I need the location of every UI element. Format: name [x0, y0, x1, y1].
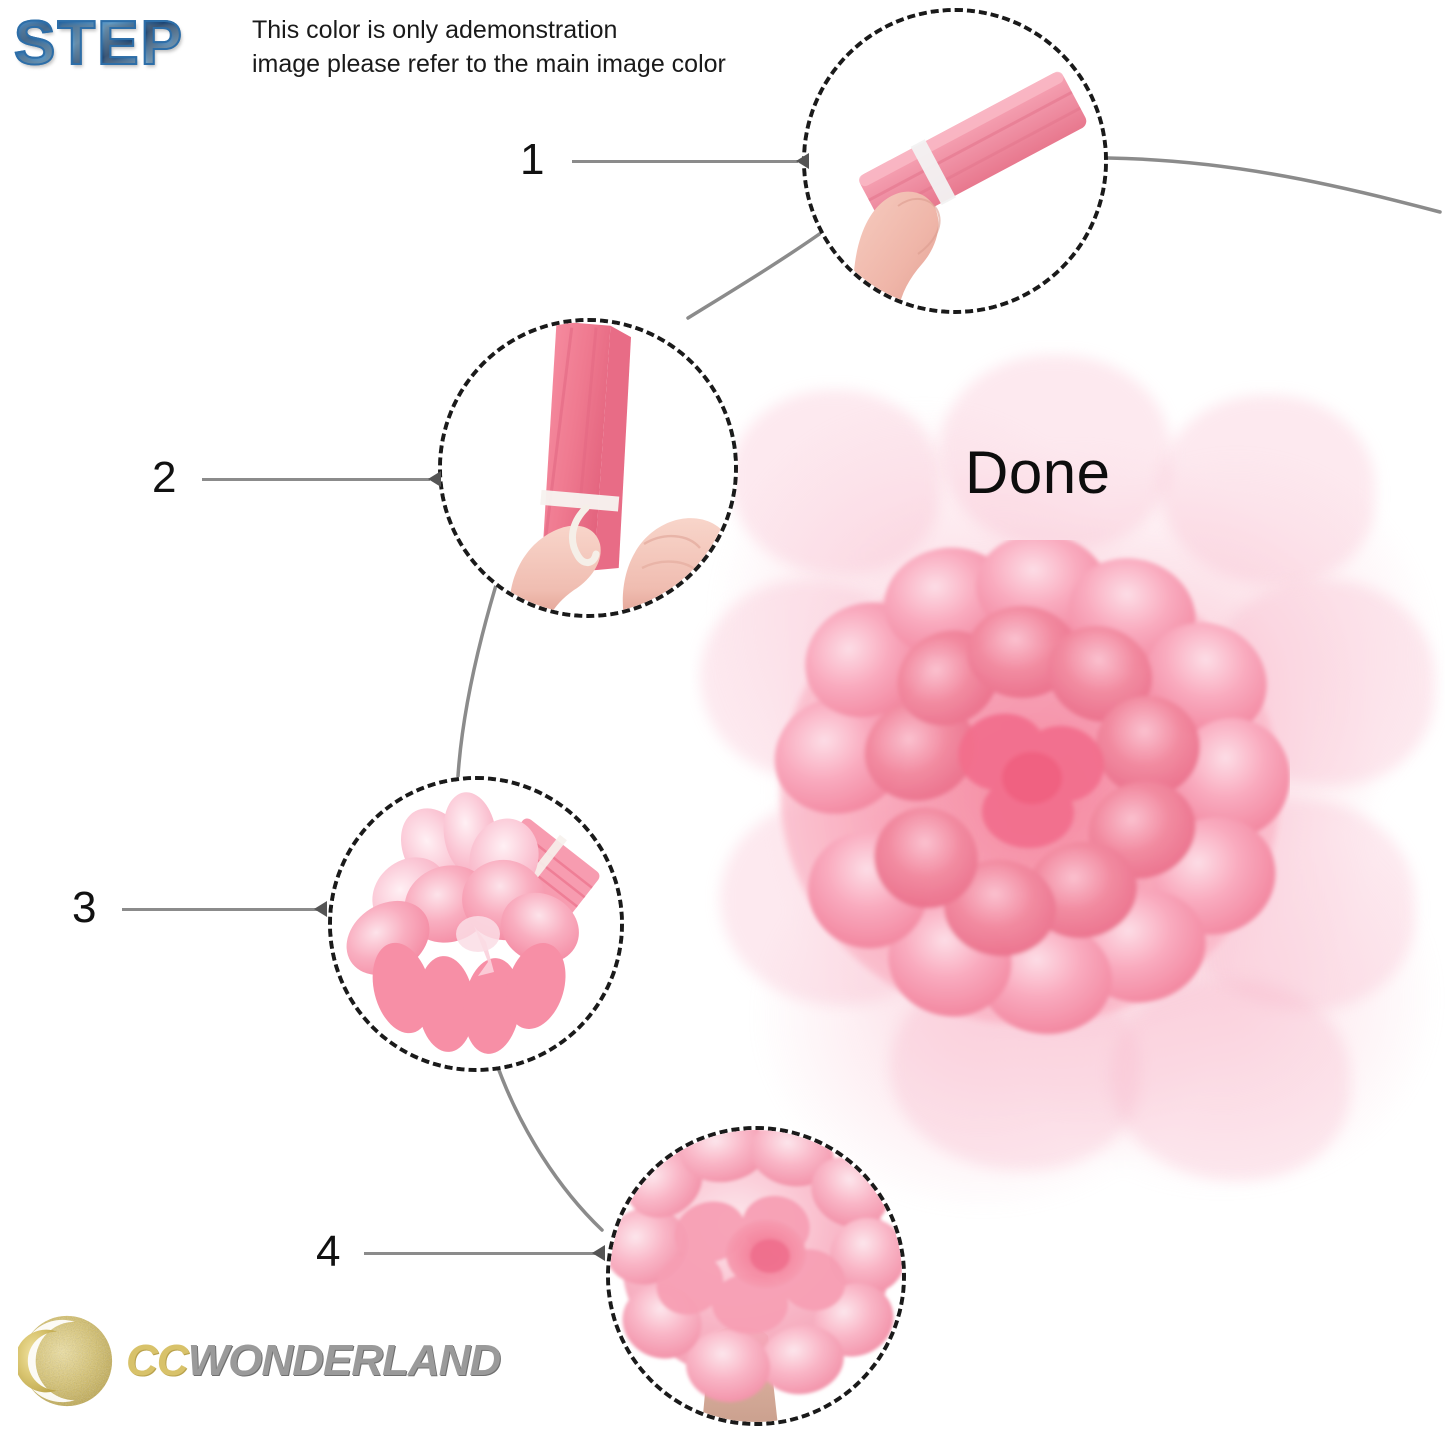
step-3-leader-line [122, 908, 320, 911]
header-note-line2: image please refer to the main image col… [252, 48, 852, 82]
finished-pompom-image [770, 540, 1290, 1060]
step-2-number: 2 [152, 456, 176, 500]
step-3-circle [328, 776, 624, 1072]
step-4-photo [606, 1126, 906, 1426]
connector-2-to-3 [458, 572, 500, 776]
step-3-number: 3 [72, 886, 96, 930]
brand-name-primary: CC [126, 1336, 188, 1385]
connector-1-to-2 [688, 228, 828, 318]
step-1-number: 1 [520, 138, 544, 182]
step-4-leader-arrow [592, 1245, 605, 1261]
header-note-line1: This color is only ademonstration [252, 14, 852, 48]
brand-name-secondary: WONDERLAND [188, 1336, 501, 1385]
connector-3-to-4 [496, 1062, 602, 1230]
step-3-photo [328, 776, 624, 1072]
step-1-leader-line [572, 160, 798, 163]
step-4-leader-line [364, 1252, 598, 1255]
pompom-vector [770, 540, 1290, 1060]
step-3-leader-arrow [314, 901, 327, 917]
step-2-photo [438, 318, 738, 618]
step-1-leader-arrow [796, 153, 809, 169]
instruction-diagram: 1 [0, 0, 1445, 1432]
crescent-moon-glitter-icon [18, 1312, 116, 1410]
step-2-leader-line [202, 478, 430, 481]
brand-text: CCWONDERLAND [126, 1336, 500, 1386]
header-note: This color is only ademonstration image … [252, 14, 852, 82]
step-2-circle [438, 318, 738, 618]
step-4-circle [606, 1126, 906, 1426]
connector-curve-right [1108, 158, 1440, 212]
step-logo: STEP [14, 8, 239, 76]
done-label: Done [965, 438, 1110, 507]
step-logo-text: STEP [14, 9, 184, 78]
brand-logo: CCWONDERLAND [18, 1310, 548, 1415]
step-2-leader-arrow [428, 471, 441, 487]
step-4-number: 4 [316, 1230, 340, 1274]
